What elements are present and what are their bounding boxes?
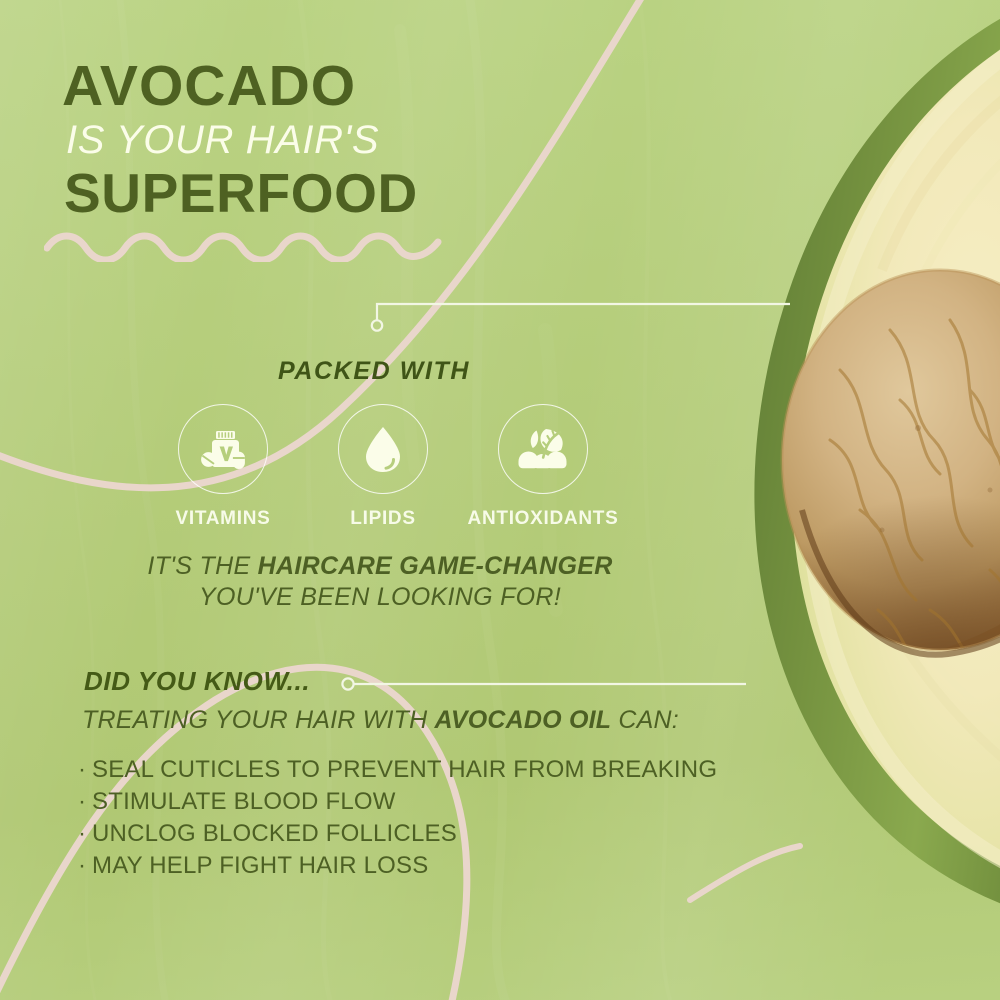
list-item: MAY HELP FIGHT HAIR LOSS xyxy=(78,850,738,882)
badge-label-vitamins: VITAMINS xyxy=(176,508,271,530)
benefit-list: SEAL CUTICLES TO PREVENT HAIR FROM BREAK… xyxy=(78,754,738,883)
tagline-block: IT'S THE HAIRCARE GAME-CHANGER YOU'VE BE… xyxy=(60,551,700,612)
tagline-line-2: YOU'VE BEEN LOOKING FOR! xyxy=(60,582,700,613)
list-item: SEAL CUTICLES TO PREVENT HAIR FROM BREAK… xyxy=(78,754,738,786)
ingredient-badges: VITAMINS LIPIDS xyxy=(148,404,618,530)
list-item: UNCLOG BLOCKED FOLLICLES xyxy=(78,818,738,850)
headline-line-3: SUPERFOOD xyxy=(64,166,622,221)
tagline-line-1: IT'S THE HAIRCARE GAME-CHANGER xyxy=(60,551,700,582)
headline-line-2: IS YOUR HAIR'S xyxy=(66,120,622,160)
dyk-sub-pre: TREATING YOUR HAIR WITH xyxy=(82,706,435,734)
tagline-bold: HAIRCARE GAME-CHANGER xyxy=(258,552,613,580)
badge-circle-vitamins xyxy=(178,404,268,494)
badge-label-antioxidants: ANTIOXIDANTS xyxy=(468,508,619,530)
oil-droplet-icon xyxy=(360,423,406,475)
dyk-sub-post: CAN: xyxy=(611,706,679,734)
badge-circle-antioxidants xyxy=(498,404,588,494)
badge-vitamins: VITAMINS xyxy=(148,404,298,530)
headline-line-1: AVOCADO xyxy=(62,58,622,115)
headline-block: AVOCADO IS YOUR HAIR'S SUPERFOOD xyxy=(62,58,622,221)
badge-circle-lipids xyxy=(338,404,428,494)
did-you-know-subtitle: TREATING YOUR HAIR WITH AVOCADO OIL CAN: xyxy=(82,706,679,735)
leaf-capsule-icon xyxy=(516,424,570,474)
did-you-know-title: DID YOU KNOW... xyxy=(84,666,310,697)
packed-with-title: PACKED WITH xyxy=(0,357,748,386)
vitamin-bottle-icon xyxy=(197,423,249,475)
poster-canvas: AVOCADO IS YOUR HAIR'S SUPERFOOD PACKED … xyxy=(0,0,1000,1000)
tagline-pre: IT'S THE xyxy=(147,552,257,580)
badge-antioxidants: ANTIOXIDANTS xyxy=(468,404,618,530)
badge-lipids: LIPIDS xyxy=(308,404,458,530)
dyk-sub-bold: AVOCADO OIL xyxy=(435,706,612,734)
badge-label-lipids: LIPIDS xyxy=(350,508,415,530)
list-item: STIMULATE BLOOD FLOW xyxy=(78,786,738,818)
wavy-underline-icon xyxy=(44,228,444,262)
